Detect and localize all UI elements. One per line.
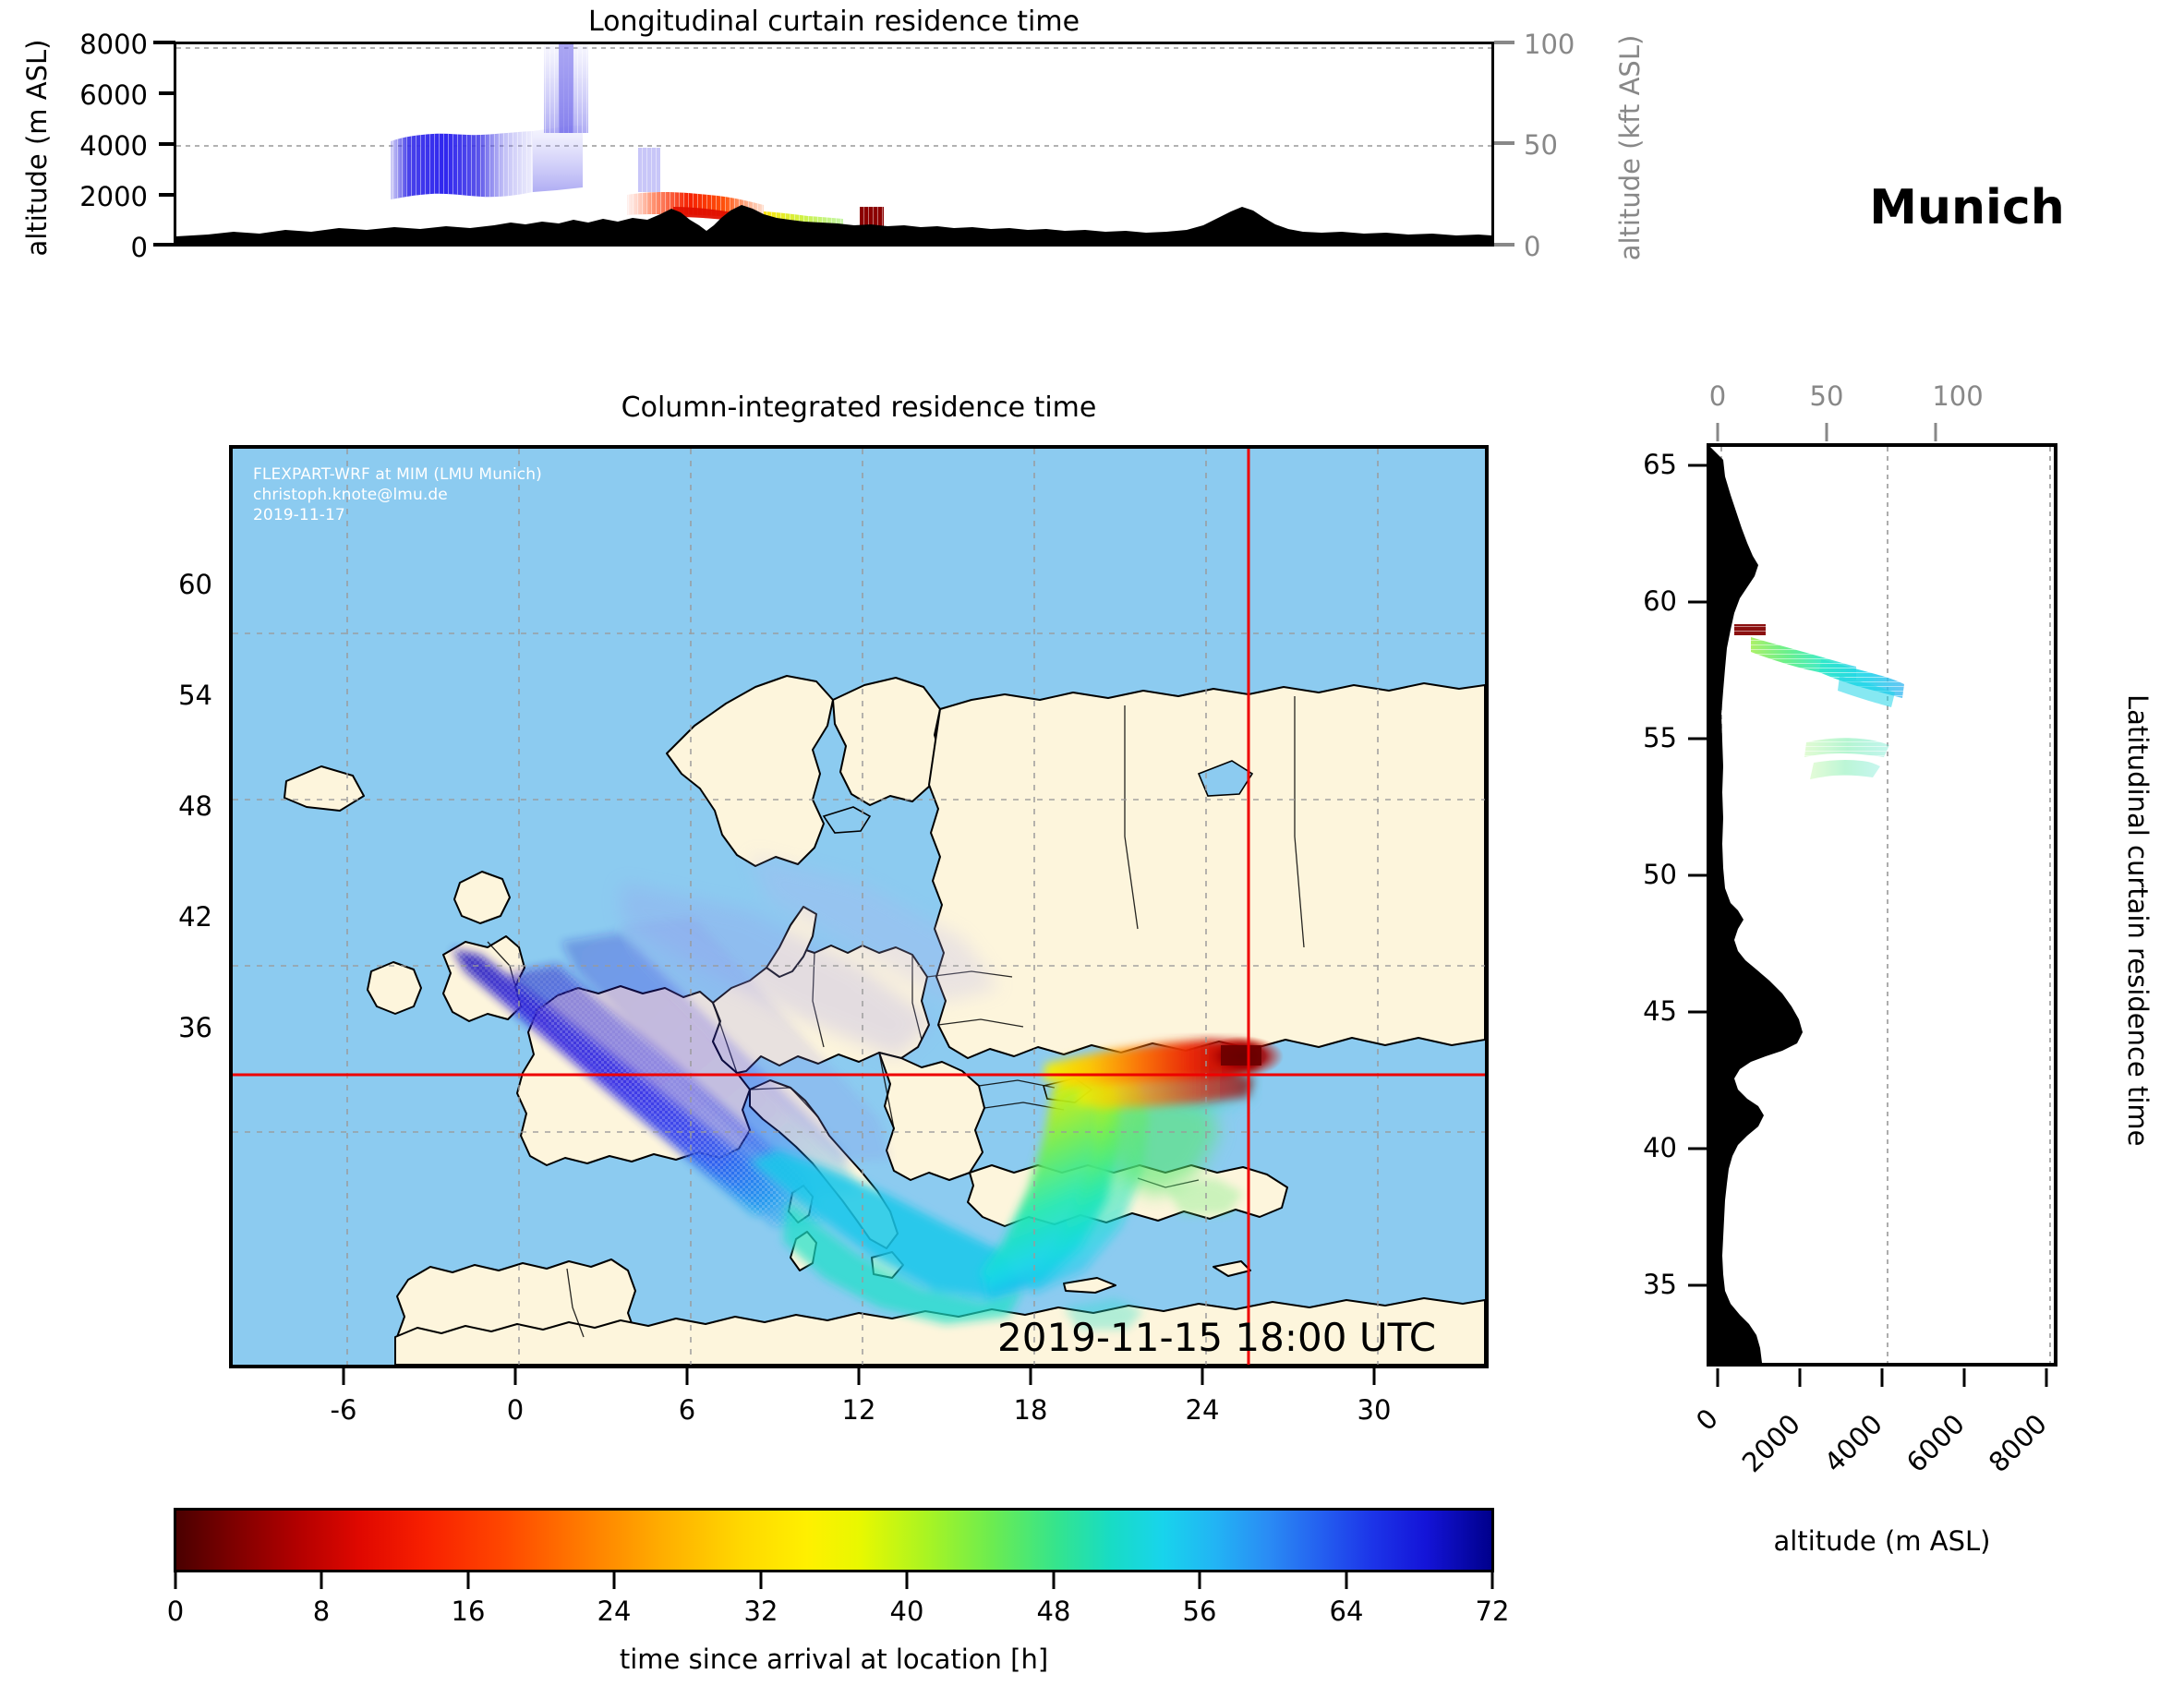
right-curtain-canvas bbox=[1710, 447, 2054, 1363]
top-left-axis-ticks bbox=[153, 37, 175, 254]
map-ytick-48: 48 bbox=[139, 790, 212, 822]
colorbar bbox=[174, 1508, 1494, 1572]
top-panel-title: Longitudinal curtain residence time bbox=[174, 6, 1494, 38]
top-terrain-silhouette bbox=[176, 205, 1491, 244]
right-ytick-55: 55 bbox=[1598, 722, 1677, 753]
right-panel-label: Latitudinal curtain residence time bbox=[2122, 694, 2154, 1128]
right-xlabel: altitude (m ASL) bbox=[1707, 1525, 2057, 1557]
colorbar-tick-0: 0 bbox=[139, 1596, 212, 1627]
right-bottom-axis-ticks bbox=[1707, 1368, 2057, 1389]
map-ytick-36: 36 bbox=[139, 1012, 212, 1043]
colorbar-tick-8: 8 bbox=[284, 1596, 358, 1627]
top-blue-sliver bbox=[638, 148, 660, 192]
colorbar-tick-56: 56 bbox=[1163, 1596, 1237, 1627]
right-xtick-top-100: 100 bbox=[1916, 380, 1999, 412]
right-ytick-60: 60 bbox=[1598, 585, 1677, 617]
colorbar-tick-64: 64 bbox=[1309, 1596, 1383, 1627]
colorbar-tick-72: 72 bbox=[1455, 1596, 1529, 1627]
top-blue-column bbox=[533, 44, 588, 192]
top-ytick-kft-50: 50 bbox=[1524, 129, 1558, 161]
map-xtick-18: 18 bbox=[994, 1394, 1068, 1426]
colorbar-label: time since arrival at location [h] bbox=[174, 1644, 1494, 1675]
right-source-block bbox=[1734, 624, 1766, 635]
right-ytick-35: 35 bbox=[1598, 1269, 1677, 1300]
watermark: FLEXPART-WRF at MIM (LMU Munich) christo… bbox=[253, 465, 542, 525]
top-ylabel-right: altitude (kft ASL) bbox=[1614, 18, 1646, 277]
right-pale-green-blob bbox=[1804, 738, 1889, 779]
map-xtick--6: -6 bbox=[307, 1394, 380, 1426]
right-xtick-top-0: 0 bbox=[1681, 380, 1755, 412]
right-ytick-45: 45 bbox=[1598, 995, 1677, 1027]
top-ytick-kft-100: 100 bbox=[1524, 29, 1575, 60]
colorbar-tick-40: 40 bbox=[870, 1596, 944, 1627]
right-xtick-top-50: 50 bbox=[1790, 380, 1864, 412]
colorbar-tick-24: 24 bbox=[577, 1596, 651, 1627]
map-xtick-30: 30 bbox=[1337, 1394, 1411, 1426]
right-ytick-65: 65 bbox=[1598, 449, 1677, 480]
map-xtick-0: 0 bbox=[478, 1394, 552, 1426]
top-right-axis-ticks bbox=[1494, 37, 1518, 254]
map-xtick-24: 24 bbox=[1165, 1394, 1239, 1426]
top-ylabel-left: altitude (m ASL) bbox=[21, 32, 53, 263]
latitudinal-curtain-plot bbox=[1707, 443, 2057, 1367]
right-ytick-40: 40 bbox=[1598, 1132, 1677, 1163]
right-terrain-silhouette bbox=[1710, 447, 1803, 1363]
timestamp-label: 2019-11-15 18:00 UTC bbox=[997, 1315, 1436, 1360]
top-source-block bbox=[860, 207, 884, 227]
colorbar-ticks bbox=[174, 1572, 1494, 1591]
colorbar-gradient bbox=[176, 1511, 1491, 1570]
right-y-axis-ticks bbox=[1686, 443, 1708, 1368]
right-top-axis-ticks bbox=[1707, 423, 2057, 443]
longitudinal-curtain-plot bbox=[174, 42, 1494, 247]
column-integrated-map[interactable]: FLEXPART-WRF at MIM (LMU Munich) christo… bbox=[229, 445, 1489, 1368]
map-panel-title: Column-integrated residence time bbox=[229, 391, 1489, 424]
colorbar-tick-48: 48 bbox=[1017, 1596, 1091, 1627]
top-blue-slab bbox=[391, 131, 533, 199]
top-ytick-kft-0: 0 bbox=[1524, 231, 1540, 262]
right-cyan-streak bbox=[1819, 659, 1904, 707]
right-ytick-50: 50 bbox=[1598, 859, 1677, 890]
map-ytick-42: 42 bbox=[139, 901, 212, 933]
colorbar-tick-16: 16 bbox=[431, 1596, 505, 1627]
map-ytick-54: 54 bbox=[139, 680, 212, 711]
map-canvas bbox=[233, 449, 1485, 1365]
top-curtain-canvas bbox=[176, 44, 1491, 244]
map-x-axis-ticks bbox=[229, 1368, 1489, 1387]
map-ytick-60: 60 bbox=[139, 569, 212, 600]
map-xtick-6: 6 bbox=[650, 1394, 724, 1426]
map-xtick-12: 12 bbox=[822, 1394, 896, 1426]
city-title: Munich bbox=[1810, 180, 2124, 235]
colorbar-tick-32: 32 bbox=[724, 1596, 798, 1627]
